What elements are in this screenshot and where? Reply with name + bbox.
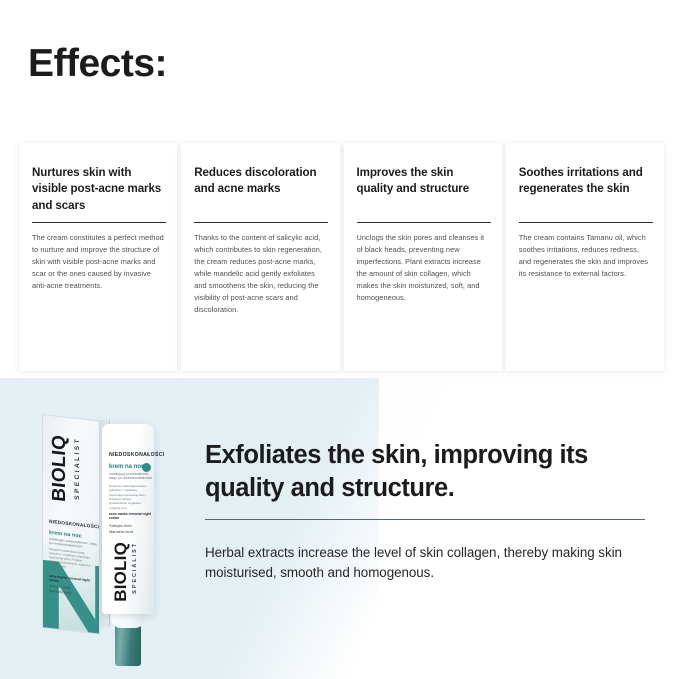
- product-tube-category: NIEDOSKONAŁOŚCI: [109, 452, 165, 458]
- effect-card-divider: [32, 222, 166, 223]
- promo-body: Herbal extracts increase the level of sk…: [205, 543, 657, 584]
- effect-card-heading: Reduces discoloration and acne marks: [194, 165, 328, 198]
- promo-headline: Exfoliates the skin, improving its quali…: [205, 439, 655, 505]
- product-box-line: SPECIALIST: [74, 437, 81, 501]
- product-box-category: NIEDOSKONAŁOŚCI: [49, 520, 99, 531]
- effects-section: Effects: Nurtures skin with visible post…: [0, 0, 679, 378]
- effect-card-body: Thanks to the content of salicylic acid,…: [194, 232, 328, 316]
- effect-card-divider: [357, 222, 491, 223]
- product-tube-brand: BIOLIQ: [112, 542, 129, 602]
- effect-card-heading: Improves the skin quality and structure: [357, 165, 491, 198]
- effects-card-row: Nurtures skin with visible post-acne mar…: [19, 143, 664, 371]
- product-tube-claim: acne marks removal night cream: [109, 512, 154, 520]
- effect-card-body: The cream contains Tamanu oil, which soo…: [519, 232, 653, 280]
- promo-divider: [205, 519, 645, 520]
- product-tube-actives: Salicylic Acid Mandelic Acid: [109, 523, 133, 534]
- product-tube-body: NIEDOSKONAŁOŚCI krem na noc redukujący p…: [102, 424, 154, 614]
- effect-card: Nurtures skin with visible post-acne mar…: [19, 143, 177, 371]
- product-tube-line: SPECIALIST: [132, 542, 138, 594]
- effect-card: Reduces discoloration and acne marks Tha…: [181, 143, 339, 371]
- product-packshot: BIOLIQ SPECIALIST NIEDOSKONAŁOŚCI krem n…: [40, 406, 170, 656]
- effect-card-body: Unclogs the skin pores and cleanses it o…: [357, 232, 491, 304]
- page-title: Effects:: [28, 44, 167, 83]
- product-tube: NIEDOSKONAŁOŚCI krem na noc redukujący p…: [102, 424, 154, 656]
- promo-section: BIOLIQ SPECIALIST NIEDOSKONAŁOŚCI krem n…: [0, 378, 679, 679]
- effect-card-divider: [194, 222, 328, 223]
- product-tube-name: krem na noc: [109, 464, 144, 470]
- effect-card: Improves the skin quality and structure …: [344, 143, 502, 371]
- effect-card-body: The cream constitutes a perfect method t…: [32, 232, 166, 292]
- product-box-front: BIOLIQ SPECIALIST NIEDOSKONAŁOŚCI krem n…: [42, 414, 100, 635]
- effect-card-divider: [519, 222, 653, 223]
- product-box-brand: BIOLIQ: [50, 434, 69, 503]
- product-tube-cap: [115, 624, 141, 666]
- effect-card-heading: Soothes irritations and regenerates the …: [519, 165, 653, 198]
- product-tube-description: Receptura zawierająca kwasy: salicylowy …: [109, 484, 147, 510]
- effect-card: Soothes irritations and regenerates the …: [506, 143, 664, 371]
- product-tube-name-sub: redukujący przebarwienia i ślady po nied…: [109, 472, 154, 480]
- effect-card-heading: Nurtures skin with visible post-acne mar…: [32, 165, 166, 214]
